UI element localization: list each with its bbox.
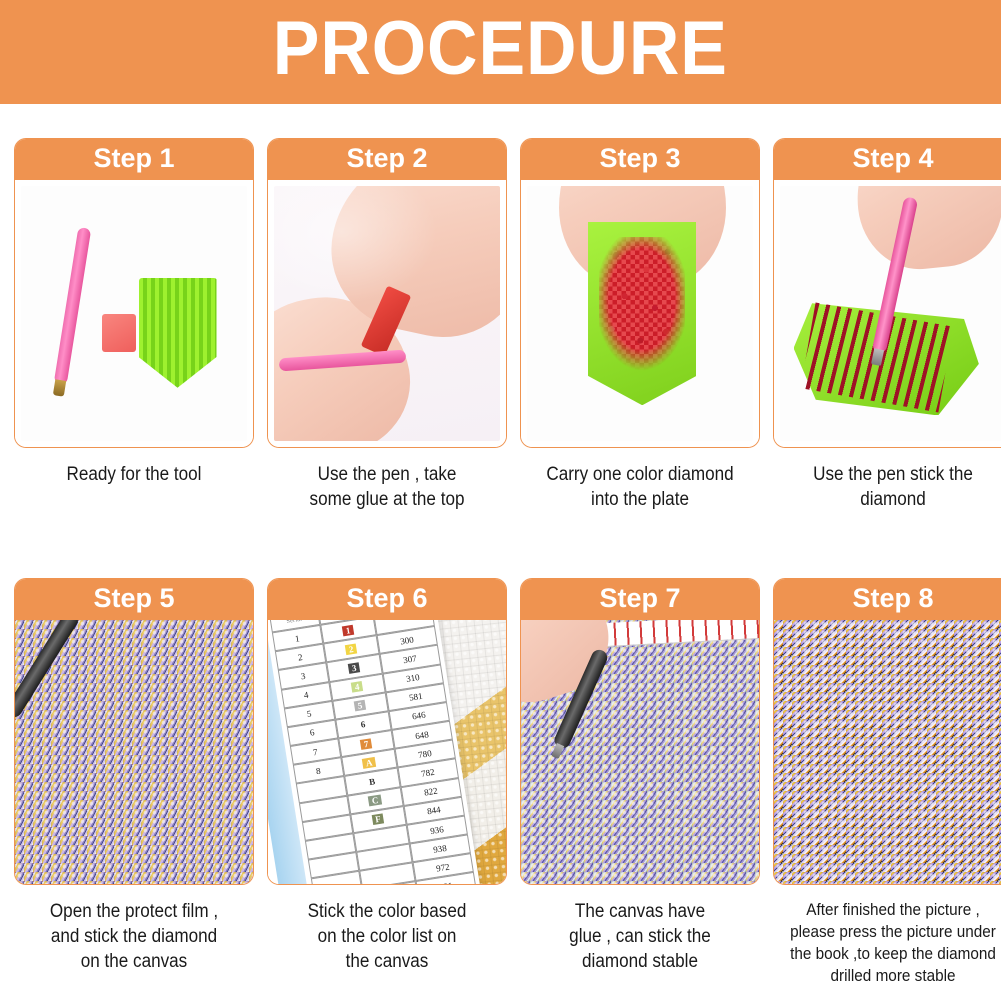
step-header-5: Step 5 xyxy=(15,579,253,620)
step-image-8 xyxy=(774,620,1001,884)
procedure-infographic: PROCEDURE Step 1 Ready for the tool xyxy=(0,0,1001,1001)
step-caption-1: Ready for the tool xyxy=(26,462,242,487)
glue-square-icon xyxy=(102,314,136,352)
step-cell-8: Step 8 After finished the picture , plea… xyxy=(773,578,1001,987)
red-diamonds-icon xyxy=(599,237,685,385)
step-image-1 xyxy=(15,180,253,447)
canvas-close-up-photo xyxy=(15,620,253,884)
step-image-5 xyxy=(15,620,253,884)
step-cell-2: Step 2 Use the pen , take some glue at t… xyxy=(267,138,507,512)
page-banner: PROCEDURE xyxy=(0,0,1001,104)
step-card-5[interactable]: Step 5 xyxy=(14,578,254,885)
diamond-mosaic-icon xyxy=(774,620,1001,884)
step-card-3[interactable]: Step 3 xyxy=(520,138,760,448)
step-cell-5: Step 5 Open the protect film , and stick… xyxy=(14,578,254,987)
step-caption-8: After finished the picture , please pres… xyxy=(785,899,1001,987)
step-header-2: Step 2 xyxy=(268,139,506,180)
step-header-3: Step 3 xyxy=(521,139,759,180)
step-header-7: Step 7 xyxy=(521,579,759,620)
tool-kit-photo xyxy=(21,186,247,441)
page-title: PROCEDURE xyxy=(273,11,728,93)
step-header-8: Step 8 xyxy=(774,579,1001,620)
finished-picture-photo xyxy=(774,620,1001,884)
pick-diamond-photo xyxy=(780,186,1001,441)
diamonds-in-plate-photo xyxy=(527,186,753,441)
step-header-1: Step 1 xyxy=(15,139,253,180)
steps-row-1: Step 1 Ready for the tool Step 2 xyxy=(0,138,1001,512)
step-card-6[interactable]: Step 6 SerialSymbolDMC112230033307443105… xyxy=(267,578,507,885)
step-image-3 xyxy=(521,180,759,447)
pink-pen-icon xyxy=(54,227,92,385)
step-cell-6: Step 6 SerialSymbolDMC112230033307443105… xyxy=(267,578,507,987)
step-card-1[interactable]: Step 1 xyxy=(14,138,254,448)
step-image-2 xyxy=(268,180,506,447)
green-tray-icon xyxy=(139,278,217,388)
step-image-7 xyxy=(521,620,759,884)
step-card-7[interactable]: Step 7 xyxy=(520,578,760,885)
step-caption-4: Use the pen stick the diamond xyxy=(785,462,1001,512)
step-cell-4: Step 4 Use the pen stick the diamond xyxy=(773,138,1001,512)
step-image-4 xyxy=(774,180,1001,447)
color-chart-photo: SerialSymbolDMC1122300333074431055581666… xyxy=(268,620,506,884)
step-header-4: Step 4 xyxy=(774,139,1001,180)
step-header-6: Step 6 xyxy=(268,579,506,620)
step-cell-7: Step 7 The canvas have glue , can stick … xyxy=(520,578,760,987)
sticking-diamond-photo xyxy=(521,620,759,884)
pen-glue-photo xyxy=(274,186,500,441)
step-caption-7: The canvas have glue , can stick the dia… xyxy=(532,899,748,974)
step-card-8[interactable]: Step 8 xyxy=(773,578,1001,885)
step-cell-3: Step 3 Carry one color diamond into the … xyxy=(520,138,760,512)
step-caption-5: Open the protect film , and stick the di… xyxy=(26,899,242,974)
step-card-2[interactable]: Step 2 xyxy=(267,138,507,448)
steps-row-2: Step 5 Open the protect film , and stick… xyxy=(0,578,1001,987)
step-image-6: SerialSymbolDMC1122300333074431055581666… xyxy=(268,620,506,884)
step-caption-6: Stick the color based on the color list … xyxy=(279,899,495,974)
step-cell-1: Step 1 Ready for the tool xyxy=(14,138,254,512)
step-card-4[interactable]: Step 4 xyxy=(773,138,1001,448)
step-caption-2: Use the pen , take some glue at the top xyxy=(279,462,495,512)
hand-icon xyxy=(849,186,1001,275)
step-caption-3: Carry one color diamond into the plate xyxy=(532,462,748,512)
